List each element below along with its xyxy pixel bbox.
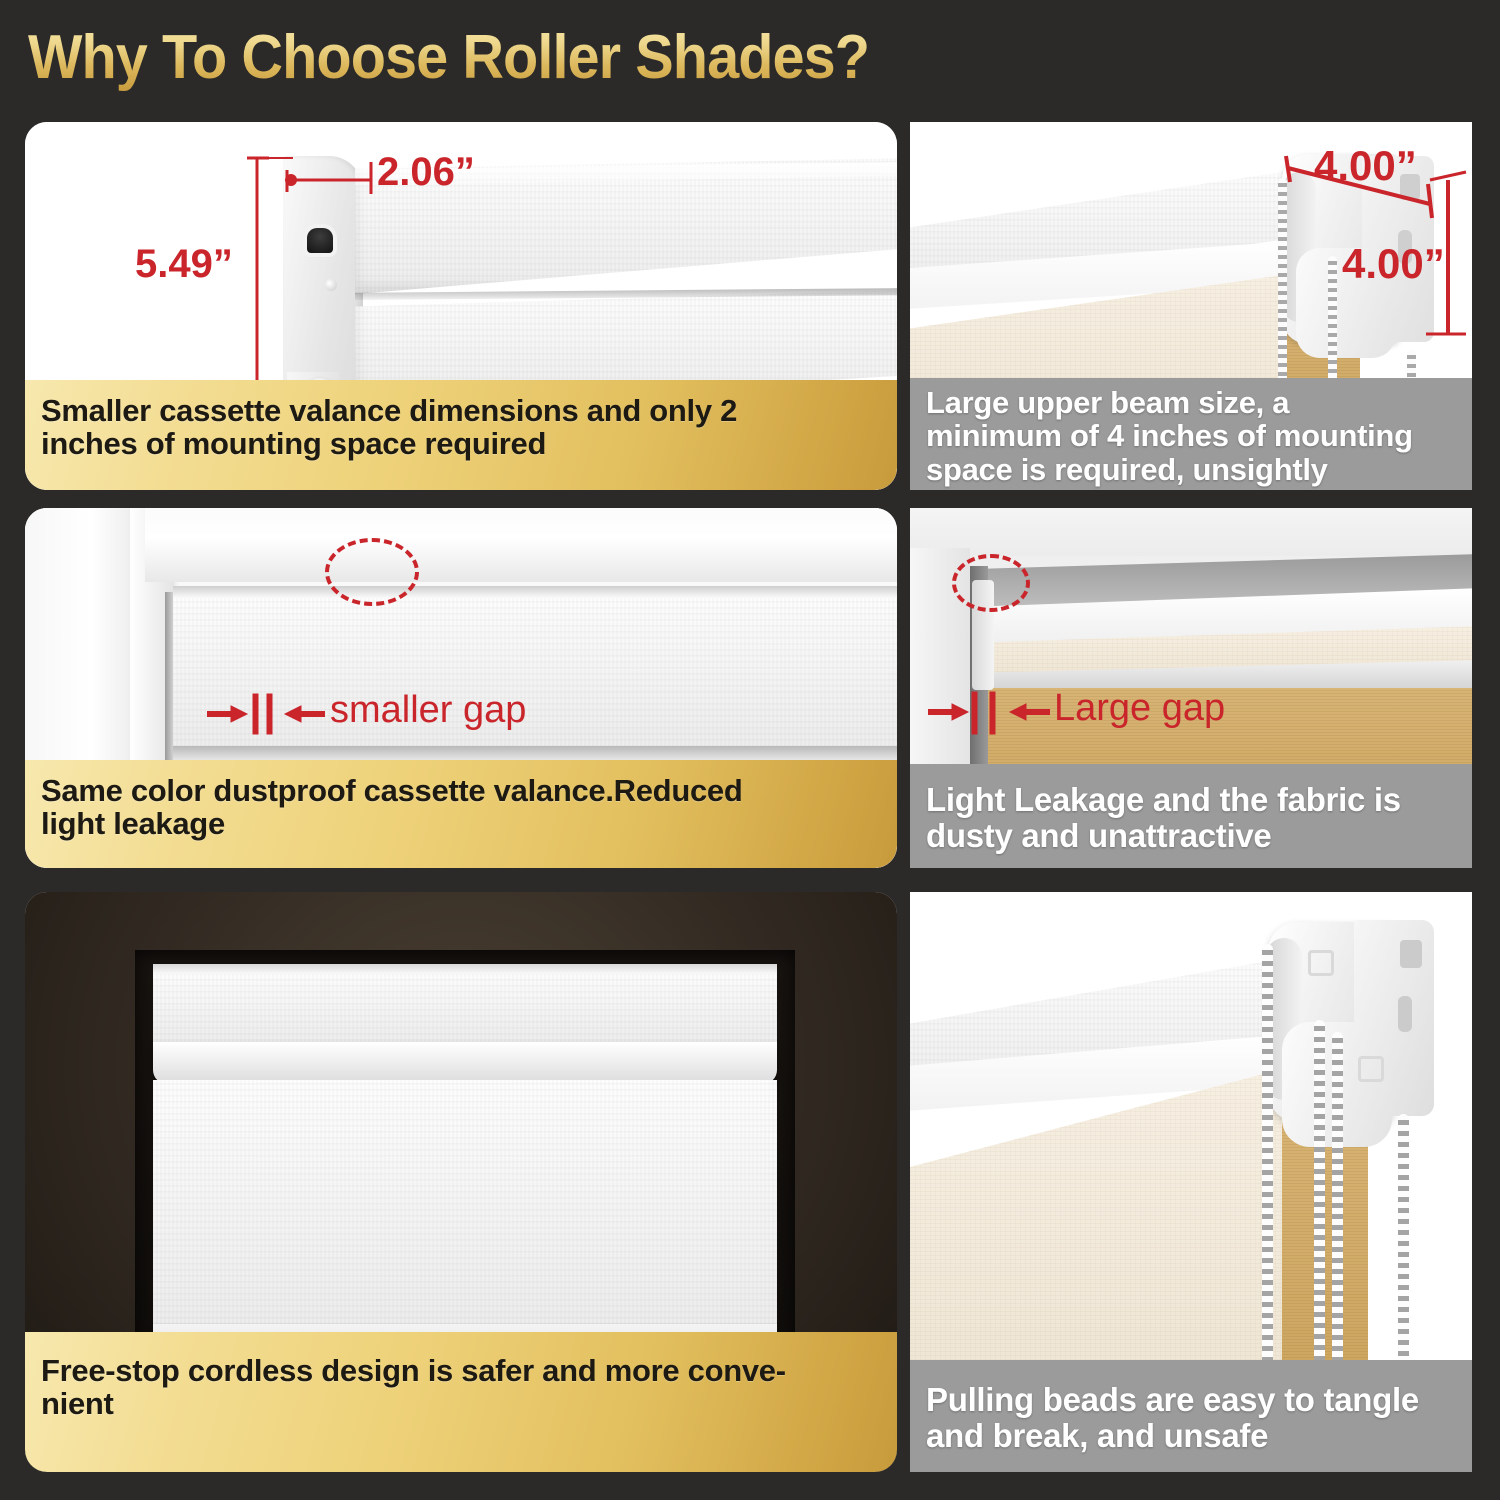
window-frame-top bbox=[145, 508, 897, 582]
caption-line: Smaller cassette valance dimensions and … bbox=[41, 394, 881, 427]
caption-line: Free-stop cordless design is safer and m… bbox=[41, 1354, 881, 1387]
cassette-head bbox=[153, 968, 777, 1046]
infographic-page: Why To Choose Roller Shades? bbox=[0, 0, 1500, 1500]
panel-dustproof-cassette-valance: smaller gap Same color dustproof cassett… bbox=[25, 508, 897, 868]
highlight-dashed-circle bbox=[952, 554, 1030, 612]
panel-caption-free-stop-cordless-design: Free-stop cordless design is safer and m… bbox=[25, 1332, 897, 1472]
panel-caption-cassette-valance-dimensions: Smaller cassette valance dimensions and … bbox=[25, 380, 897, 490]
bracket-arrow-emblem-upper bbox=[1308, 950, 1334, 976]
caption-line: minimum of 4 inches of mounting bbox=[926, 419, 1456, 452]
highlight-dashed-circle bbox=[325, 538, 419, 606]
bracket-slot-lower bbox=[1398, 996, 1412, 1032]
caption-line: light leakage bbox=[41, 807, 881, 840]
valance-slot bbox=[307, 228, 333, 253]
caption-line: Large upper beam size, a bbox=[926, 386, 1456, 419]
caption-line: Pulling beads are easy to tangle bbox=[926, 1382, 1456, 1418]
panel-light-leakage-dusty-fabric: Large gap Light Leakage and the fabric i… bbox=[910, 508, 1472, 868]
bracket-arrow-emblem-lower bbox=[1358, 1056, 1384, 1082]
panel-caption-large-upper-beam: Large upper beam size, a minimum of 4 in… bbox=[910, 378, 1472, 490]
valance-screw bbox=[325, 279, 337, 291]
panel-cassette-valance-dimensions: 2.06” 5.49” Smaller cassette valance dim… bbox=[25, 122, 897, 490]
panel-free-stop-cordless-design: Free-stop cordless design is safer and m… bbox=[25, 892, 897, 1472]
bracket-slot-upper bbox=[1400, 940, 1422, 968]
gap-callout-label: Large gap bbox=[1054, 687, 1225, 730]
panel-caption-dustproof-cassette-valance: Same color dustproof cassette valance.Re… bbox=[25, 760, 897, 868]
dimension-label-width: 4.00” bbox=[1314, 142, 1417, 190]
wall-background bbox=[910, 508, 1472, 556]
cassette-head-top-edge bbox=[153, 964, 777, 974]
caption-line: nient bbox=[41, 1387, 881, 1420]
cassette-valance-band bbox=[173, 592, 897, 752]
shade-fabric-main bbox=[153, 1080, 777, 1330]
cassette-head-lip bbox=[153, 1042, 777, 1084]
valance-end-cap bbox=[283, 156, 363, 391]
page-title: Why To Choose Roller Shades? bbox=[28, 22, 869, 93]
dimension-label-width: 2.06” bbox=[377, 150, 475, 195]
valance-top-edge bbox=[173, 586, 897, 598]
gap-callout-label: smaller gap bbox=[330, 689, 526, 732]
panel-caption-light-leakage-dusty-fabric: Light Leakage and the fabric is dusty an… bbox=[910, 764, 1472, 868]
panel-pulling-beads-tangle: Pulling beads are easy to tangle and bre… bbox=[910, 892, 1472, 1472]
caption-line: and break, and unsafe bbox=[926, 1418, 1456, 1454]
caption-line: Same color dustproof cassette valance.Re… bbox=[41, 774, 881, 807]
panel-caption-pulling-beads-tangle: Pulling beads are easy to tangle and bre… bbox=[910, 1360, 1472, 1472]
dimension-label-height: 5.49” bbox=[135, 242, 233, 287]
caption-line: space is required, unsightly bbox=[926, 453, 1456, 486]
caption-line: Light Leakage and the fabric is bbox=[926, 782, 1456, 818]
caption-line: dusty and unattractive bbox=[926, 818, 1456, 854]
panel-large-upper-beam: 4.00” 4.00” Large upper beam size, a min… bbox=[910, 122, 1472, 490]
dimension-label-height: 4.00” bbox=[1342, 240, 1445, 288]
caption-line: inches of mounting space required bbox=[41, 427, 881, 460]
